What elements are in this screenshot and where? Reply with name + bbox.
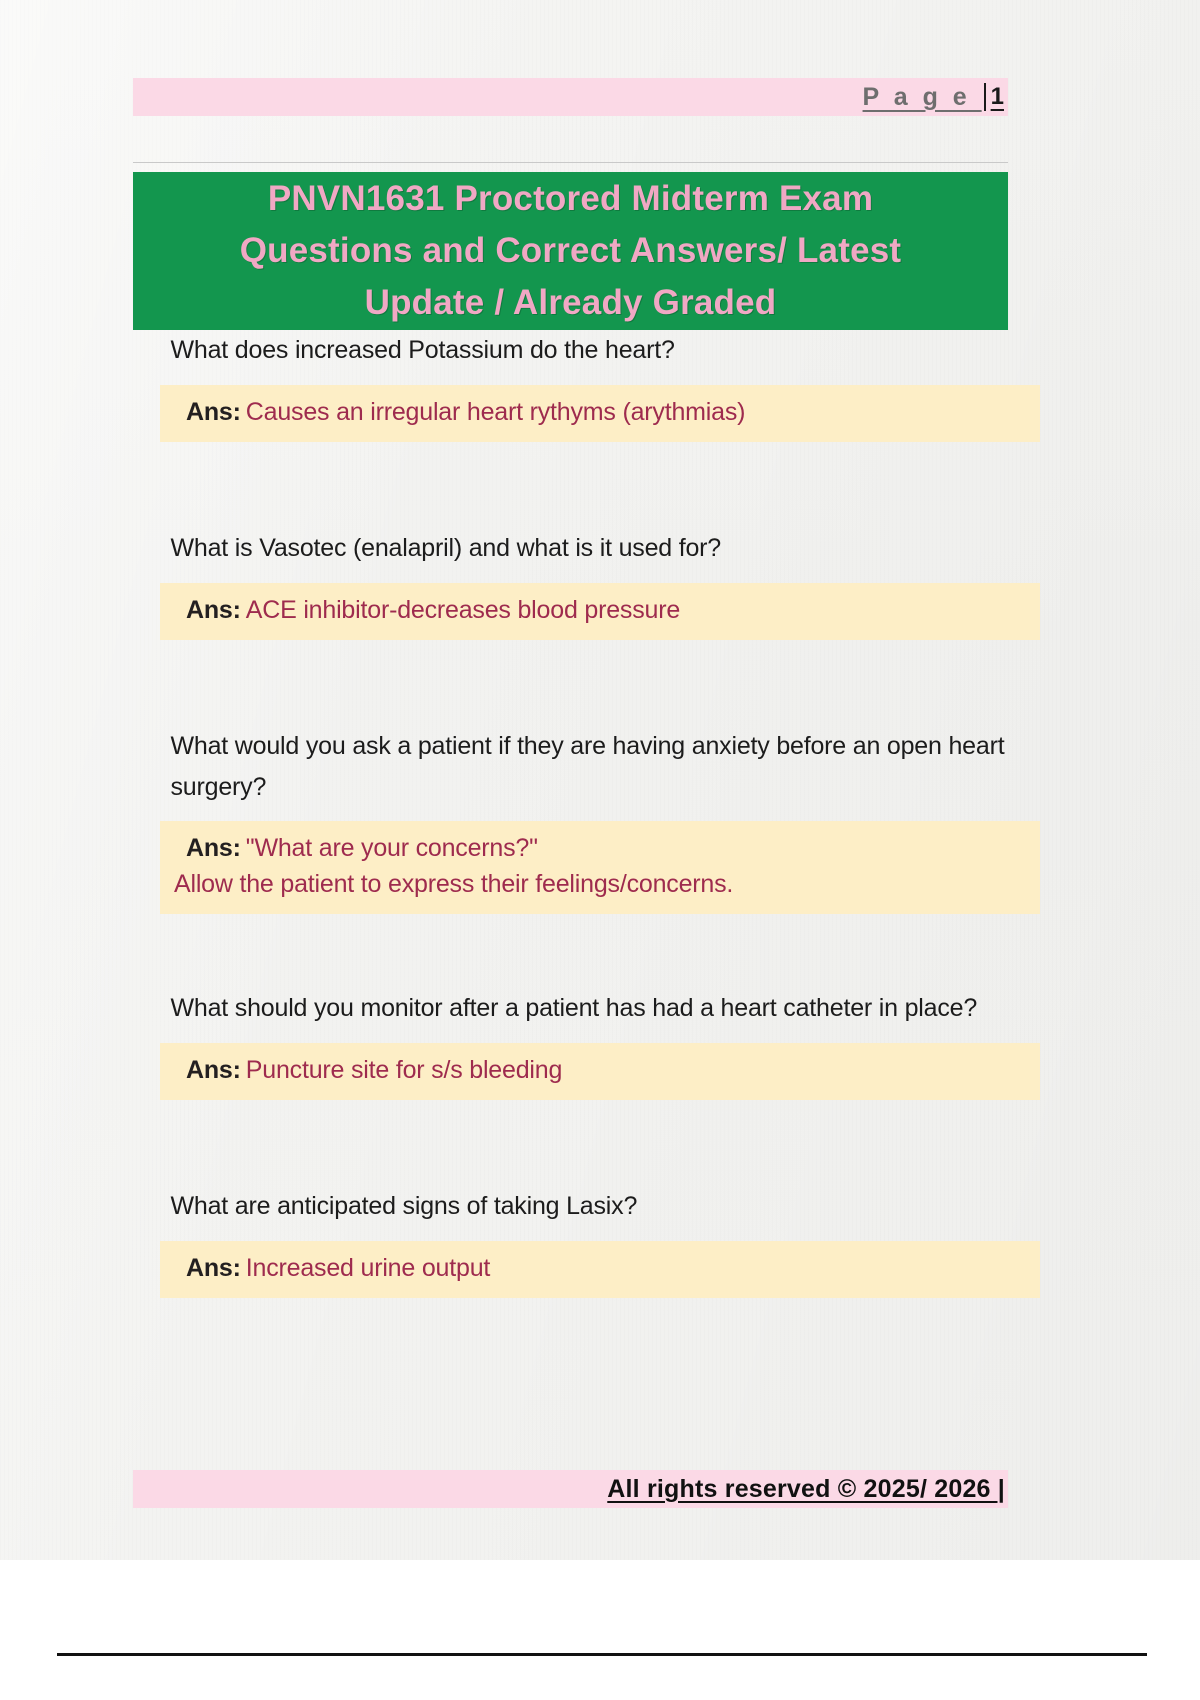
copyright-text: All rights reserved © 2025/ 2026 | [607,1475,1005,1504]
question-text: What does increased Potassium do the hea… [163,330,1038,371]
qa-block: What would you ask a patient if they are… [0,726,1200,914]
answer-box: Ans:Puncture site for s/s bleeding [160,1043,1040,1101]
ans-label: Ans: [186,1254,241,1282]
ans-label: Ans: [186,398,241,426]
question-text: What are anticipated signs of taking Las… [163,1186,1038,1227]
document-content: P a g e 1 PNVN1631 Proctored Midterm Exa… [0,0,1200,1560]
block-spacer [0,442,1200,528]
answer-line: Ans:"What are your concerns?" [174,831,1026,867]
question-text: What should you monitor after a patient … [163,988,1038,1029]
ans-label: Ans: [186,596,241,624]
answer-line: Ans:Puncture site for s/s bleeding [174,1053,1026,1089]
answer-text: Causes an irregular heart rythyms (aryth… [246,398,746,426]
answer-line: Allow the patient to express their feeli… [174,867,1026,903]
title-line-1: PNVN1631 Proctored Midterm Exam [268,173,873,225]
page-footer-bar: All rights reserved © 2025/ 2026 | [133,1470,1008,1508]
question-text: What would you ask a patient if they are… [163,726,1038,807]
qa-block: What are anticipated signs of taking Las… [0,1186,1200,1298]
title-line-2: Questions and Correct Answers/ Latest [240,225,902,277]
answer-text: Puncture site for s/s bleeding [246,1056,562,1084]
question-text: What is Vasotec (enalapril) and what is … [163,528,1038,569]
answer-box: Ans:Causes an irregular heart rythyms (a… [160,385,1040,443]
bottom-divider-rule [57,1653,1147,1656]
answer-text: Allow the patient to express their feeli… [174,870,733,898]
answer-box: Ans:ACE inhibitor-decreases blood pressu… [160,583,1040,641]
answer-text: "What are your concerns?" [246,834,538,862]
answer-line: Ans:Increased urine output [174,1251,1026,1287]
answer-text: ACE inhibitor-decreases blood pressure [246,596,680,624]
qa-list: What does increased Potassium do the hea… [0,330,1200,1298]
qa-block: What is Vasotec (enalapril) and what is … [0,528,1200,640]
block-spacer [0,914,1200,988]
page-number: 1 [984,83,1004,111]
page-label: P a g e [863,83,982,112]
qa-block: What should you monitor after a patient … [0,988,1200,1100]
block-spacer [0,1100,1200,1186]
answer-line: Ans:ACE inhibitor-decreases blood pressu… [174,593,1026,629]
qa-block: What does increased Potassium do the hea… [0,330,1200,442]
title-banner: PNVN1631 Proctored Midterm Exam Question… [133,172,1008,330]
page-header-bar: P a g e 1 [133,78,1008,116]
title-line-3: Update / Already Graded [365,277,777,329]
answer-box: Ans:"What are your concerns?" Allow the … [160,821,1040,914]
answer-line: Ans:Causes an irregular heart rythyms (a… [174,395,1026,431]
answer-box: Ans:Increased urine output [160,1241,1040,1299]
answer-text: Increased urine output [246,1254,490,1282]
header-divider-rule [133,162,1008,163]
ans-label: Ans: [186,1056,241,1084]
block-spacer [0,640,1200,726]
ans-label: Ans: [186,834,241,862]
